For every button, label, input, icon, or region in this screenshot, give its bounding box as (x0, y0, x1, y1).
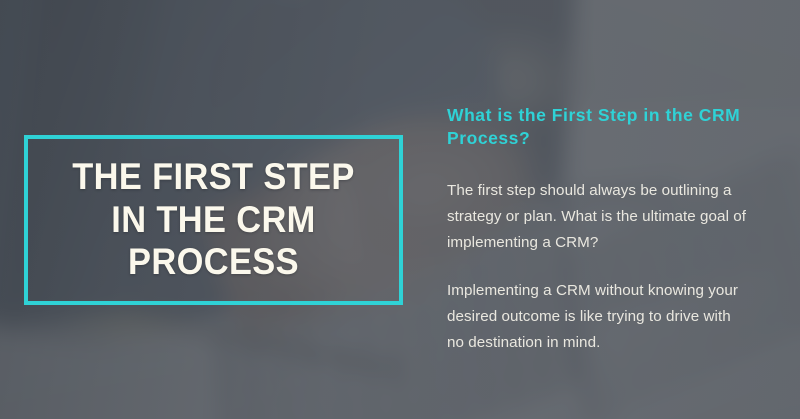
body-paragraph-2: Implementing a CRM without knowing your … (447, 278, 747, 356)
body-paragraph-1: The first step should always be outlinin… (447, 178, 747, 256)
main-headline: THE FIRST STEP IN THE CRM PROCESS (41, 156, 386, 285)
headline-frame: THE FIRST STEP IN THE CRM PROCESS (24, 135, 403, 305)
section-heading: What is the First Step in the CRM Proces… (447, 104, 747, 151)
foreground-content: THE FIRST STEP IN THE CRM PROCESS What i… (0, 0, 800, 419)
graphic-canvas: THE FIRST STEP IN THE CRM PROCESS What i… (0, 0, 800, 419)
right-text-column: What is the First Step in the CRM Proces… (447, 104, 747, 356)
